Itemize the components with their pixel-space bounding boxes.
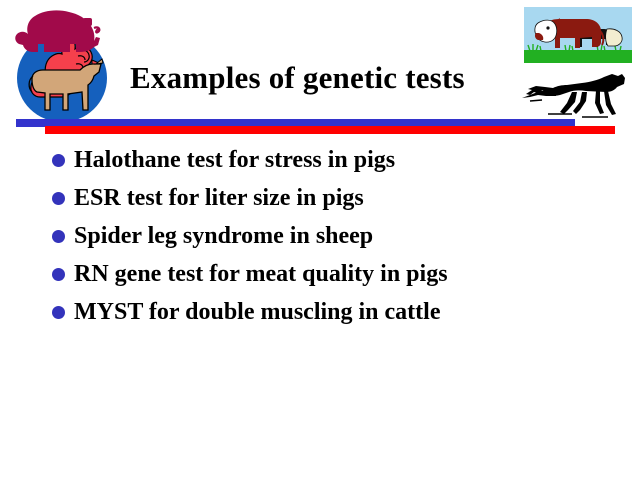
cattle-photo xyxy=(524,7,632,63)
list-item: MYST for double muscling in cattle xyxy=(52,295,612,333)
bullet-dot-icon xyxy=(52,230,65,243)
photo-grass xyxy=(524,50,632,63)
list-item-label: RN gene test for meat quality in pigs xyxy=(74,257,448,291)
list-item: Spider leg syndrome in sheep xyxy=(52,219,612,257)
list-item-label: ESR test for liter size in pigs xyxy=(74,181,364,215)
bullet-dot-icon xyxy=(52,306,65,319)
bullet-dot-icon xyxy=(52,192,65,205)
presentation-slide: Examples of genetic tests Halothane test… xyxy=(0,0,640,480)
divider-bar-red xyxy=(45,126,615,134)
page-title: Examples of genetic tests xyxy=(130,59,510,97)
horse-front-legs xyxy=(595,91,616,115)
bullet-dot-icon xyxy=(52,154,65,167)
list-item: ESR test for liter size in pigs xyxy=(52,181,612,219)
list-item: RN gene test for meat quality in pigs xyxy=(52,257,612,295)
list-item-label: Halothane test for stress in pigs xyxy=(74,143,395,177)
bullet-list: Halothane test for stress in pigs ESR te… xyxy=(52,143,612,333)
list-item-label: Spider leg syndrome in sheep xyxy=(74,219,373,253)
list-item: Halothane test for stress in pigs xyxy=(52,143,612,181)
livestock-logo xyxy=(6,4,118,126)
pig-shape xyxy=(15,10,100,52)
list-item-label: MYST for double muscling in cattle xyxy=(74,295,440,329)
pig-tail xyxy=(94,27,99,32)
running-horse-icon xyxy=(512,70,630,122)
pig-ear xyxy=(83,18,92,26)
bullet-dot-icon xyxy=(52,268,65,281)
horse-hind-legs xyxy=(560,92,587,114)
hereford-eye xyxy=(546,26,549,29)
